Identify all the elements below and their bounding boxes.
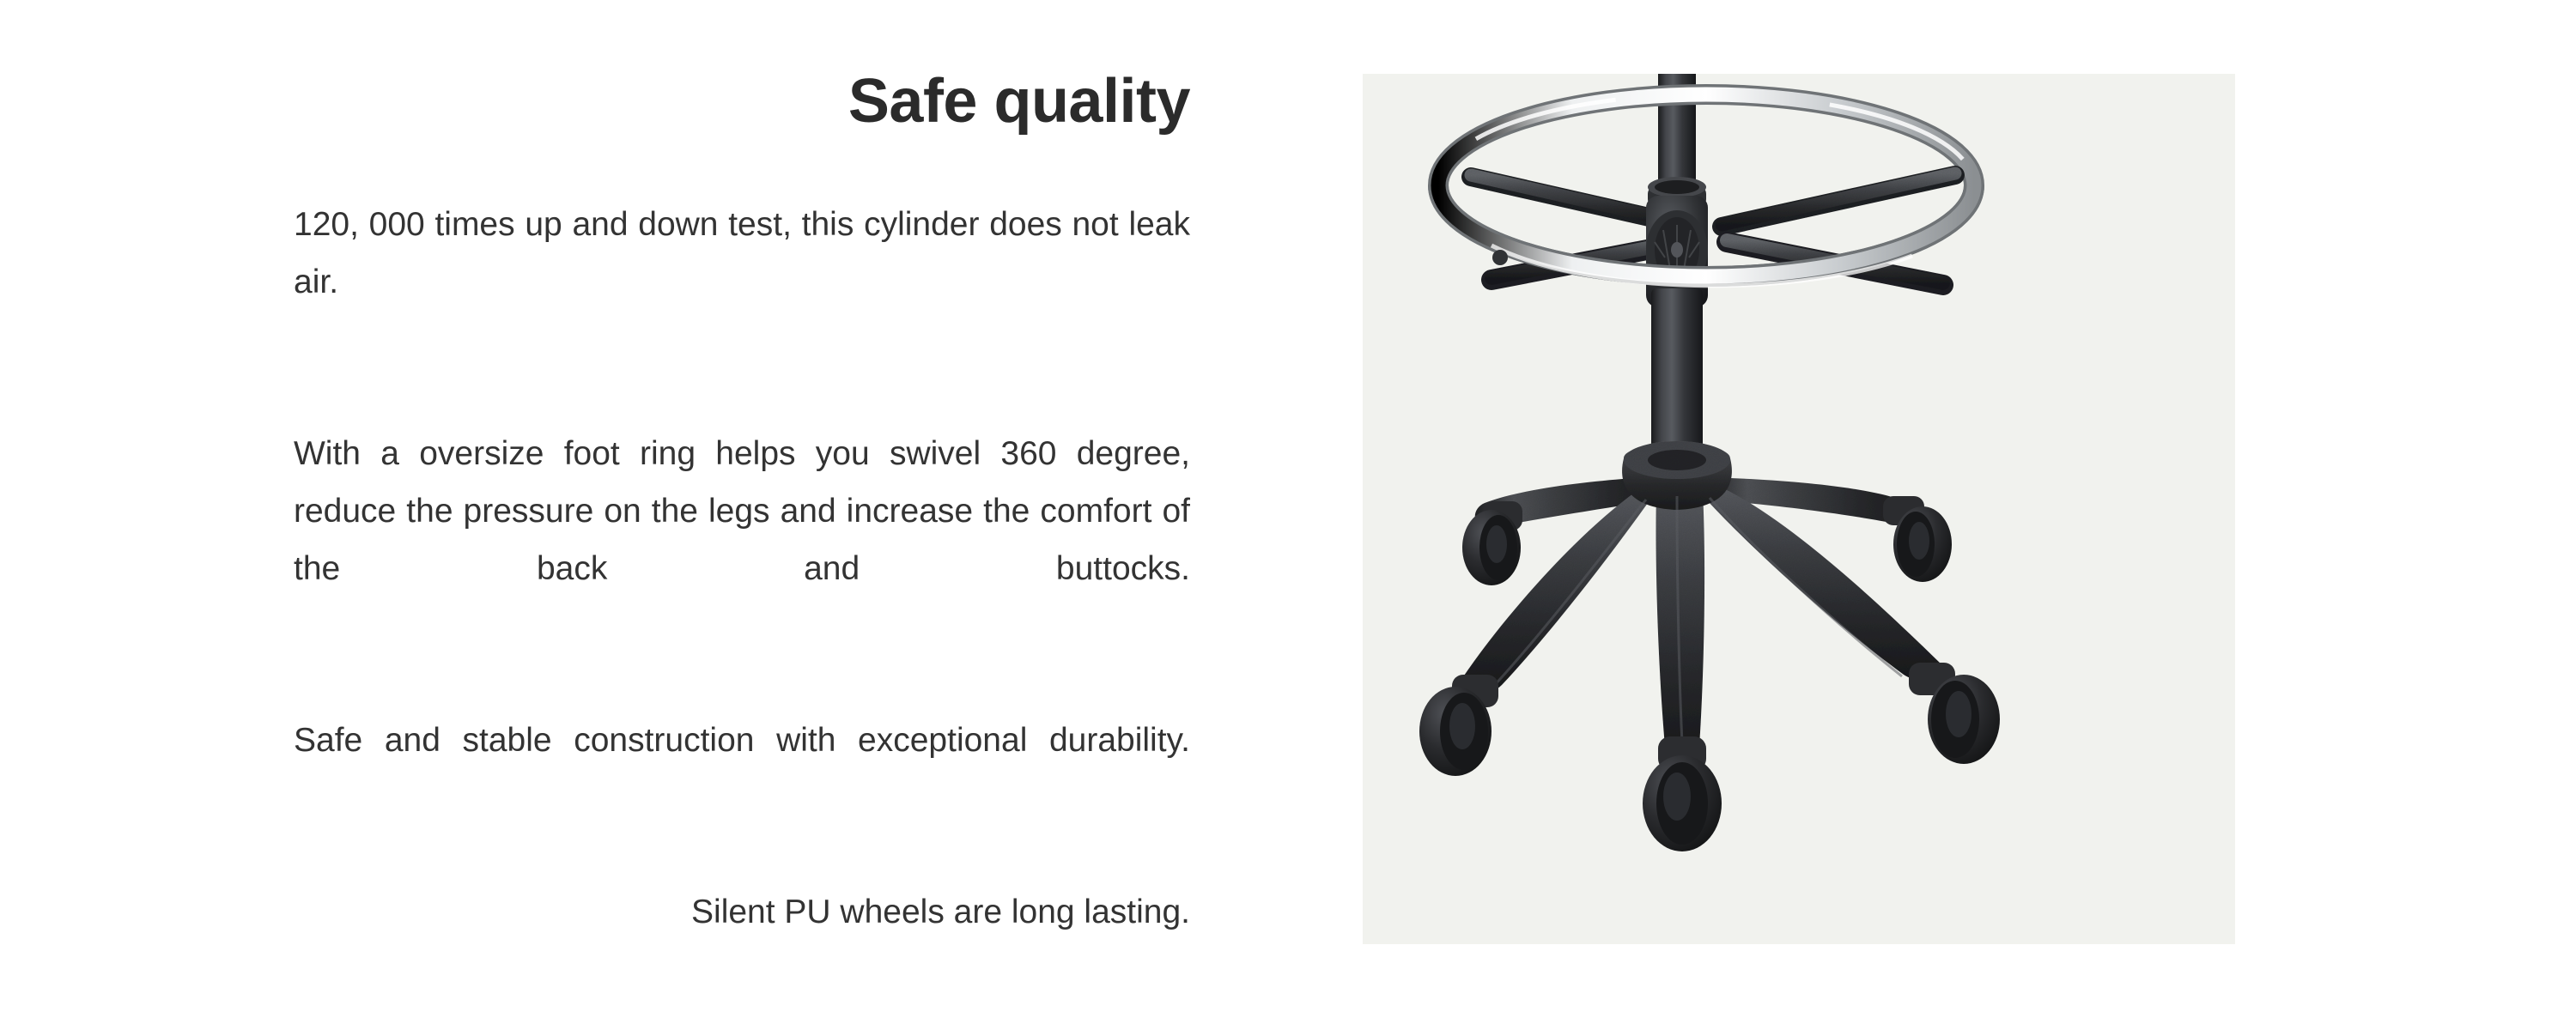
ring-hub-collar <box>1646 177 1708 307</box>
description-paragraph-3: Safe and stable construction with except… <box>294 712 1190 827</box>
description-paragraph-2: With a oversize foot ring helps you swiv… <box>294 425 1190 655</box>
chair-base-illustration <box>1363 74 2235 944</box>
description-list: 120, 000 times up and down test, this cy… <box>294 196 1190 998</box>
description-paragraph-4: Silent PU wheels are long lasting. <box>294 883 1190 998</box>
text-column: Safe quality 120, 000 times up and down … <box>294 51 1190 998</box>
product-image-panel <box>1363 74 2235 944</box>
description-paragraph-1: 120, 000 times up and down test, this cy… <box>294 196 1190 368</box>
page-title: Safe quality <box>294 51 1190 132</box>
slide-root: Safe quality 120, 000 times up and down … <box>0 0 2576 1030</box>
